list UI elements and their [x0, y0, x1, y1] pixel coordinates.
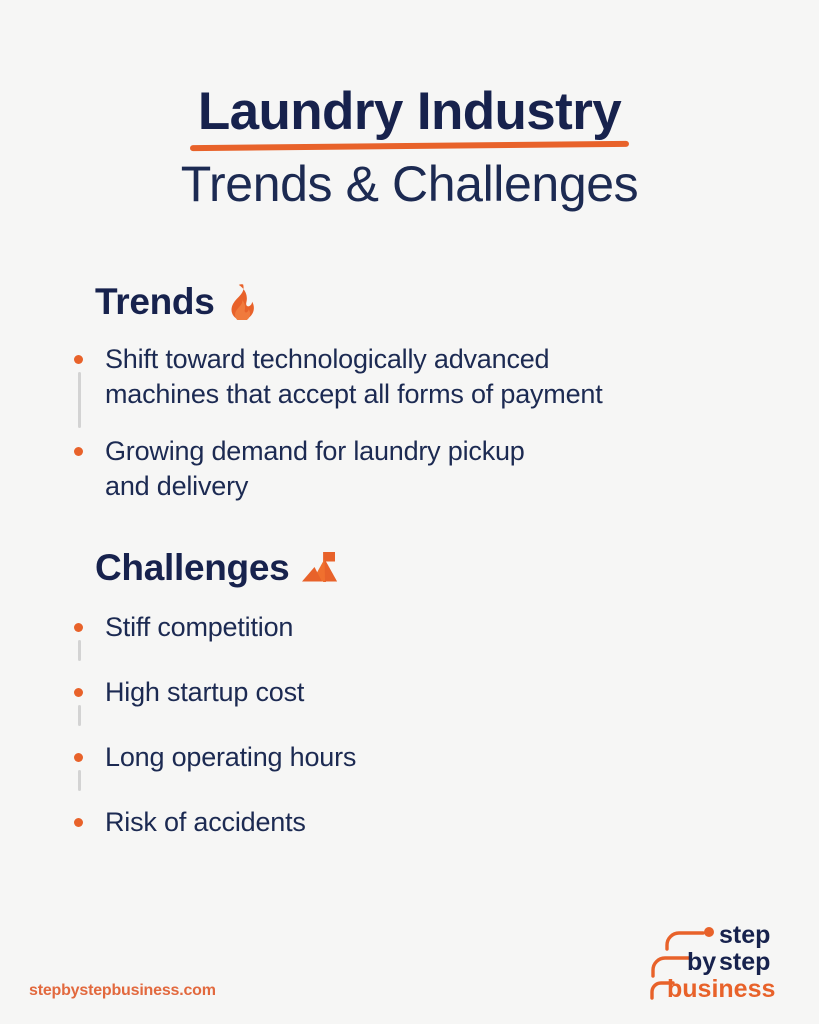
bullet-connector-line [78, 372, 81, 428]
list-item: Stiff competition [0, 610, 819, 645]
list-item-text: Stiff competition [105, 610, 819, 645]
list-item: Shift toward technologically advanced ma… [0, 342, 819, 412]
list-item-text: Long operating hours [105, 740, 819, 775]
logo-line-3: business [667, 975, 775, 1003]
bullet-dot-icon [74, 447, 83, 456]
logo-line-1: step [719, 921, 770, 949]
title-main-wrapper: Laundry Industry [198, 84, 621, 140]
bullet-connector-line [78, 705, 81, 726]
section-trends-header: Trends [95, 283, 819, 320]
section-trends-title: Trends [95, 283, 215, 320]
title-block: Laundry Industry Trends & Challenges [0, 84, 819, 210]
list-item: High startup cost [0, 675, 819, 710]
logo-line-2b: step [719, 948, 770, 976]
fire-icon [227, 284, 257, 320]
logo-line-2a: by [687, 948, 716, 976]
section-trends: Trends Shift toward technologically adva… [0, 283, 819, 504]
title-underline-accent [190, 141, 629, 151]
brand-logo[interactable]: step by step business [643, 917, 793, 1007]
bullet-dot-icon [74, 818, 83, 827]
section-challenges-header: Challenges [95, 549, 819, 586]
section-challenges: Challenges Stiff competition [0, 549, 819, 840]
list-item-text: Growing demand for laundry pickup and de… [105, 434, 819, 504]
list-item-text: High startup cost [105, 675, 819, 710]
list-item: Growing demand for laundry pickup and de… [0, 434, 819, 504]
infographic-page: Laundry Industry Trends & Challenges Tre… [0, 0, 819, 1024]
list-item: Risk of accidents [0, 805, 819, 840]
bullet-connector-line [78, 640, 81, 661]
list-item-text: Risk of accidents [105, 805, 819, 840]
page-title: Laundry Industry [198, 84, 621, 140]
trends-bullet-list: Shift toward technologically advanced ma… [0, 342, 819, 504]
mountain-flag-icon [301, 550, 341, 586]
list-item: Long operating hours [0, 740, 819, 775]
page-subtitle: Trends & Challenges [0, 158, 819, 211]
bullet-connector-line [78, 770, 81, 791]
challenges-bullet-list: Stiff competition High startup cost Long… [0, 610, 819, 840]
bullet-dot-icon [74, 753, 83, 762]
bullet-dot-icon [74, 688, 83, 697]
bullet-dot-icon [74, 623, 83, 632]
section-challenges-title: Challenges [95, 549, 289, 586]
list-item-text: Shift toward technologically advanced ma… [105, 342, 819, 412]
bullet-dot-icon [74, 355, 83, 364]
footer-website-url[interactable]: stepbystepbusiness.com [29, 982, 216, 1000]
